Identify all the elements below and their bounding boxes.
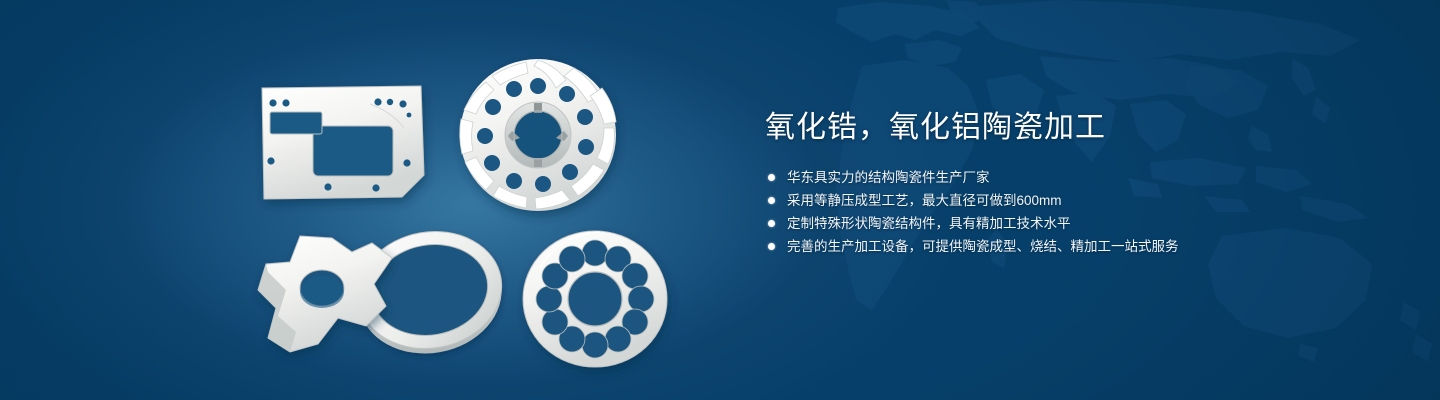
ceramic-cross-part-graphic — [258, 236, 392, 352]
bullet-dot-icon — [768, 197, 775, 204]
banner-headline: 氧化锆，氧化铝陶瓷加工 — [765, 108, 1385, 148]
banner-copy: 氧化锆，氧化铝陶瓷加工 华东具实力的结构陶瓷件生产厂家 采用等静压成型工艺，最大… — [765, 108, 1385, 258]
ceramic-plate-graphic — [262, 86, 424, 199]
feature-text: 定制特殊形状陶瓷结构件，具有精加工技术水平 — [787, 216, 1071, 231]
feature-list-item: 采用等静压成型工艺，最大直径可做到600mm — [765, 189, 1385, 212]
ceramic-perforated-disc-graphic — [523, 231, 667, 367]
promo-banner: 氧化锆，氧化铝陶瓷加工 华东具实力的结构陶瓷件生产厂家 采用等静压成型工艺，最大… — [0, 0, 1440, 400]
feature-text: 完善的生产加工设备，可提供陶瓷成型、烧结、精加工一站式服务 — [787, 239, 1179, 254]
bullet-dot-icon — [768, 174, 775, 181]
ceramic-impeller-graphic — [460, 59, 616, 211]
feature-list-item: 定制特殊形状陶瓷结构件，具有精加工技术水平 — [765, 212, 1385, 235]
product-photo-cluster — [0, 0, 760, 400]
feature-list: 华东具实力的结构陶瓷件生产厂家 采用等静压成型工艺，最大直径可做到600mm 定… — [765, 166, 1385, 258]
feature-list-item: 完善的生产加工设备，可提供陶瓷成型、烧结、精加工一站式服务 — [765, 235, 1385, 258]
feature-list-item: 华东具实力的结构陶瓷件生产厂家 — [765, 166, 1385, 189]
bullet-dot-icon — [768, 220, 775, 227]
bullet-dot-icon — [768, 243, 775, 250]
feature-text: 采用等静压成型工艺，最大直径可做到600mm — [787, 193, 1062, 208]
feature-text: 华东具实力的结构陶瓷件生产厂家 — [787, 170, 990, 185]
